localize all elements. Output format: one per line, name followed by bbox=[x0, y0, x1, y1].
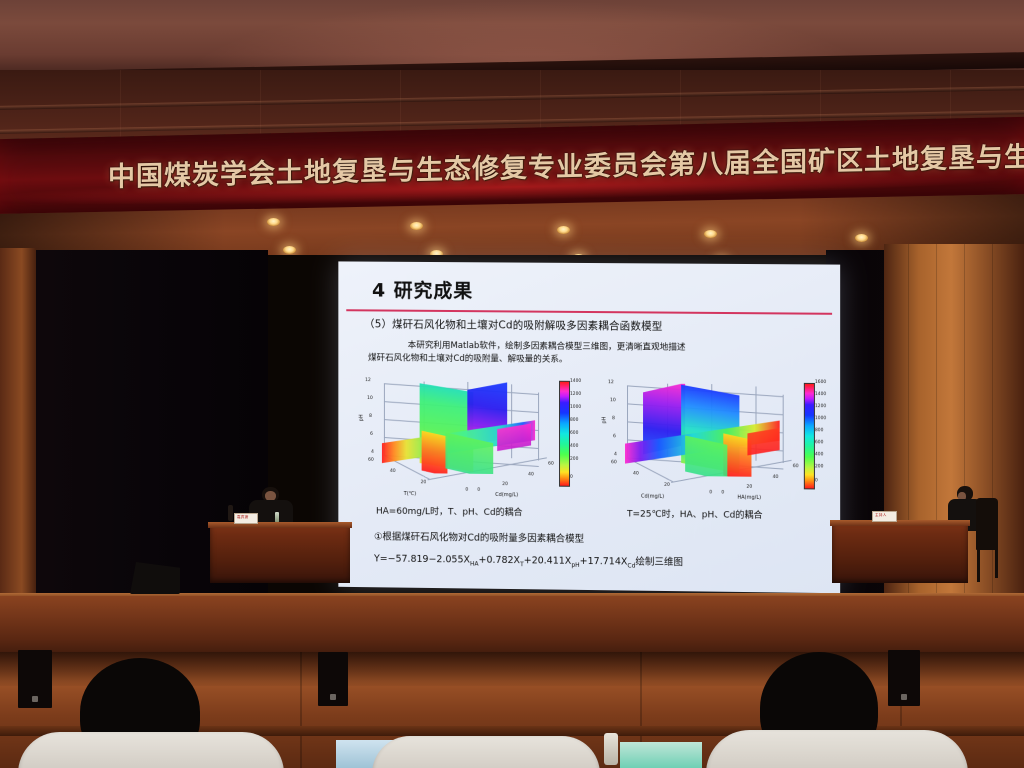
chart-left-colorbar-ticks: 1400 1200 1000 800 600 400 200 0 bbox=[346, 373, 593, 375]
projection-screen: 4 研究成果 （5）煤矸石风化物和土壤对Cd的吸附解吸多因素耦合函数模型 本研究… bbox=[338, 261, 840, 593]
nameplate-left: 嘉宾席 bbox=[234, 513, 258, 524]
chart-right-y-ticks: 0 20 40 60 bbox=[589, 375, 838, 377]
presentation-slide: 4 研究成果 （5）煤矸石风化物和土壤对Cd的吸附解吸多因素耦合函数模型 本研究… bbox=[338, 261, 840, 593]
formula-prefix: Y=−57.819−2.055X bbox=[374, 553, 470, 565]
chart-left-surface bbox=[376, 381, 543, 474]
formula-tail: 绘制三维图 bbox=[635, 557, 683, 569]
nameplate-left-text: 嘉宾席 bbox=[237, 515, 249, 520]
slide-body-text: 本研究利用Matlab软件，绘制多因素耦合模型三维图，更清晰直观地描述 煤矸石风… bbox=[368, 339, 808, 369]
chart-right-x-label: Cd(mg/L) bbox=[641, 494, 664, 500]
chair-right-leg-a bbox=[977, 548, 980, 582]
chart-right-colorbar-ticks: 1600 1400 1200 1000 800 600 400 200 0 bbox=[589, 375, 838, 377]
desk-lamp-left bbox=[228, 505, 233, 521]
side-wall-left bbox=[0, 248, 36, 600]
speaker-desk-left-edge bbox=[208, 522, 352, 528]
stage-monitor-speaker bbox=[130, 562, 180, 594]
chart-left-colorbar bbox=[559, 381, 570, 487]
chart-left: 12 10 8 6 4 pH 60 40 20 0 T(℃) 0 bbox=[346, 373, 593, 503]
chart-left-x-ticks: 60 40 20 0 bbox=[346, 373, 593, 375]
chart-right: 12 10 8 6 4 pH 60 40 20 0 Cd(mg/L) 0 20 bbox=[589, 375, 838, 506]
wall-speaker-left bbox=[18, 650, 52, 708]
speaker-desk-left bbox=[210, 525, 350, 583]
title-divider bbox=[346, 309, 832, 315]
caption-right: T=25℃时，HA、pH、Cd的耦合 bbox=[627, 506, 763, 521]
formula-term-3: +17.714X bbox=[580, 556, 628, 568]
wall-speaker-right bbox=[888, 650, 920, 706]
audience-seat-left bbox=[18, 732, 284, 768]
formula-equation: Y=−57.819−2.055XHA+0.782XT+20.411XpH+17.… bbox=[374, 550, 683, 570]
formula-sub-ha: HA bbox=[470, 560, 479, 567]
formula-term-1: +0.782X bbox=[479, 555, 521, 566]
audience-seat-right bbox=[706, 730, 968, 768]
nameplate-right-text: 主持人 bbox=[875, 513, 887, 518]
chart-right-y-label: HA(mg/L) bbox=[737, 495, 761, 501]
audience-seat-center bbox=[372, 736, 600, 768]
chart-right-colorbar bbox=[804, 383, 815, 490]
chart-left-z-label: pH bbox=[359, 414, 365, 421]
chart-right-z-ticks: 12 10 8 6 4 bbox=[589, 375, 838, 377]
lecture-hall-photo: 中国煤炭学会土地复垦与生态修复专业委员会第八届全国矿区土地复垦与生态修复会议 4… bbox=[0, 0, 1024, 768]
nameplate-right: 主持人 bbox=[872, 511, 897, 522]
formula-sub-ph: pH bbox=[571, 562, 579, 569]
formula-heading: ①根据煤矸石风化物对Cd的吸附量多因素耦合模型 bbox=[374, 528, 584, 544]
chart-left-z-ticks: 12 10 8 6 4 bbox=[346, 373, 593, 375]
wall-speaker-center bbox=[318, 652, 348, 706]
slide-title: 4 研究成果 bbox=[372, 276, 473, 304]
chart-left-y-label: Cd(mg/L) bbox=[495, 492, 518, 498]
chart-right-x-ticks: 60 40 20 0 bbox=[589, 375, 838, 377]
body-line-2: 煤矸石风化物和土壤对Cd的吸附量、解吸量的关系。 bbox=[368, 354, 567, 366]
speaker-desk-right-edge bbox=[830, 520, 970, 526]
audience-cup bbox=[604, 733, 618, 765]
chart-left-x-label: T(℃) bbox=[404, 491, 416, 497]
chart-right-surface bbox=[619, 383, 788, 477]
stage-front bbox=[0, 596, 1024, 658]
formula-term-2: +20.411X bbox=[524, 555, 572, 567]
chart-left-y-ticks: 0 20 40 60 bbox=[346, 373, 593, 375]
chart-right-z-label: pH bbox=[601, 417, 607, 424]
speaker-desk-right bbox=[832, 523, 968, 583]
audience-laptop-right bbox=[620, 742, 702, 768]
caption-left: HA=60mg/L时，T、pH、Cd的耦合 bbox=[376, 504, 523, 519]
chair-right-leg-b bbox=[995, 548, 998, 578]
chair-right bbox=[976, 498, 998, 550]
slide-subtitle: （5）煤矸石风化物和土壤对Cd的吸附解吸多因素耦合函数模型 bbox=[364, 316, 662, 333]
